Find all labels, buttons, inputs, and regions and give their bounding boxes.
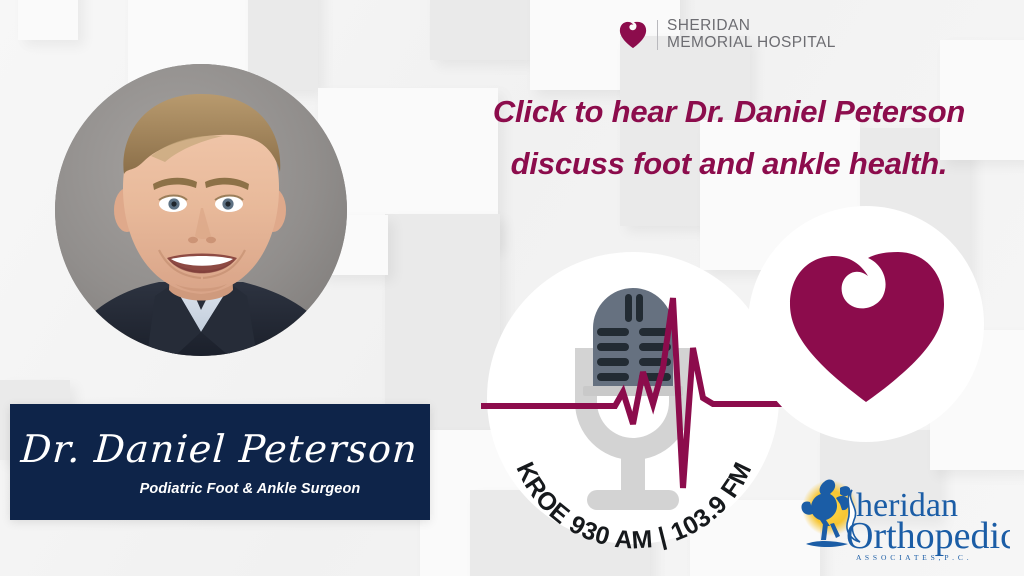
doctor-name: Dr. Daniel Peterson [20, 427, 420, 471]
hospital-logo-text: SHERIDAN MEMORIAL HOSPITAL [667, 18, 836, 51]
hospital-name-line1: SHERIDAN [667, 18, 836, 35]
ortho-logo-graphic: heridan Orthopedic A S S O C I A T E S ,… [790, 468, 1010, 568]
sheridan-orthopedic-logo: heridan Orthopedic A S S O C I A T E S ,… [790, 468, 1010, 568]
ortho-line3: A S S O C I A T E S , P . C . [856, 553, 970, 562]
hospital-name-line2: MEMORIAL HOSPITAL [667, 35, 836, 52]
heart-badge-graphic [748, 206, 984, 442]
hospital-heart-badge [748, 206, 984, 442]
headline-line-2: discuss foot and ankle health. [440, 138, 1018, 190]
doctor-portrait [55, 64, 347, 356]
sheridan-memorial-hospital-logo: SHERIDAN MEMORIAL HOSPITAL [618, 18, 836, 51]
promo-graphic: SHERIDAN MEMORIAL HOSPITAL Click to hear… [0, 0, 1024, 576]
portrait-illustration [55, 64, 347, 356]
headline-line-1: Click to hear Dr. Daniel Peterson [440, 86, 1018, 138]
radio-station-badge[interactable]: KROE 930 AM | 103.9 FM [487, 252, 779, 544]
doctor-name-banner: Dr. Daniel Peterson Podiatric Foot & Ank… [10, 404, 430, 520]
doctor-role: Podiatric Foot & Ankle Surgeon [140, 481, 361, 497]
page-title: Click to hear Dr. Daniel Peterson discus… [440, 86, 1018, 190]
bg-shape-6 [430, 0, 530, 60]
ortho-line2: Orthopedic [846, 515, 1010, 557]
radio-badge-graphic[interactable]: KROE 930 AM | 103.9 FM [487, 252, 779, 544]
heart-swirl-icon [618, 20, 648, 50]
logo-divider [657, 20, 658, 50]
bg-shape-18 [18, 0, 78, 40]
